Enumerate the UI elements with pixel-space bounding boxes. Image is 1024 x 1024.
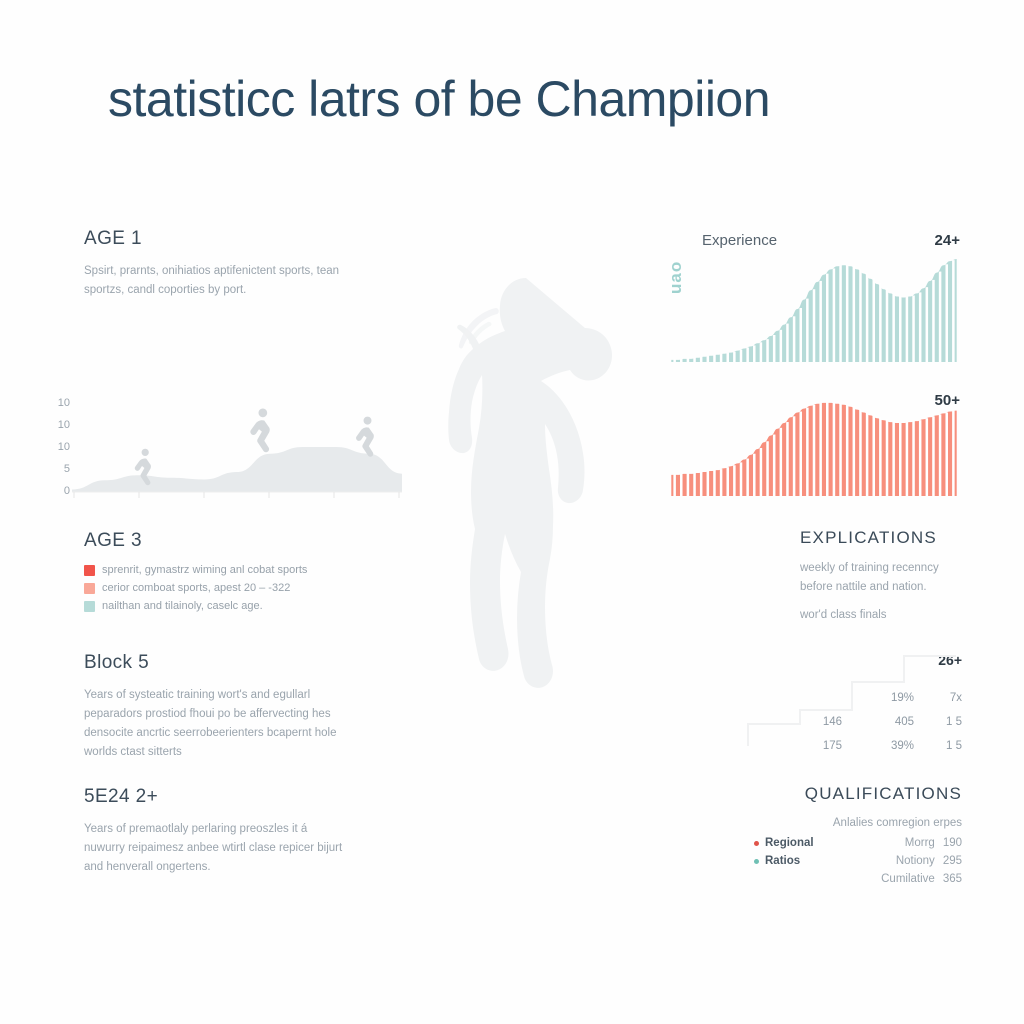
explications-line: weekly of training recenncy before natti… [800, 559, 970, 597]
section-block5-heading: Block 5 [84, 652, 346, 674]
section-5e24: 5E24 2+ Years of premaotlaly perlaring p… [84, 786, 346, 877]
bar-gap [939, 272, 942, 362]
bar-gap [892, 292, 895, 362]
bar-gap [872, 414, 875, 496]
bar-gap [673, 474, 676, 496]
section-qualifications-heading: QUALIFICATIONS [754, 784, 962, 804]
runner-silhouette-figure [400, 260, 640, 780]
bar-gap [879, 283, 882, 362]
bar-gap [746, 459, 749, 496]
bar-gap [766, 441, 769, 496]
bar-gap [746, 347, 749, 362]
bar-gap [839, 265, 842, 362]
bar-gap [879, 417, 882, 496]
section-age3-heading: AGE 3 [84, 530, 366, 552]
qualifications-subtitle: Anlalies comregion erpes [754, 817, 962, 829]
hill-chart-y-axis: 10 10 10 5 0 [44, 392, 70, 502]
explications-line: wor'd class finals [800, 606, 970, 625]
bar-gap [726, 467, 729, 496]
bar-gap [906, 297, 909, 362]
bar-gap [680, 359, 683, 362]
experience-chart: Experience 24+ uao [668, 232, 960, 362]
legend-dot [754, 841, 759, 846]
table-cell: 39% [842, 740, 914, 752]
bar-gap [740, 350, 743, 362]
table-cell: 175 [750, 740, 842, 752]
bar-gap [786, 422, 789, 496]
bar-gap [872, 278, 875, 362]
qualifications-body: RegionalRatios Morrg190Notiony295Cumilat… [754, 837, 962, 891]
bar-gap [866, 273, 869, 362]
y-tick: 0 [44, 480, 70, 502]
page-title: statisticc latrs of be Champiion [108, 70, 968, 128]
bar-gap [939, 414, 942, 496]
bar-gap [826, 274, 829, 362]
bar-gap [853, 406, 856, 496]
bar-gap [906, 422, 909, 496]
section-qualifications: QUALIFICATIONS Anlalies comregion erpes … [754, 784, 962, 891]
hill-area-chart [72, 392, 402, 504]
bar-gap [833, 402, 836, 496]
infographic-canvas: statisticc latrs of be Champiion AGE 1 S… [0, 0, 1024, 1024]
section-explications-body: weekly of training recenncy before natti… [800, 559, 970, 625]
qualification-row-value: 365 [943, 873, 962, 885]
bar-gap [846, 404, 849, 496]
table-cell: 19% [842, 692, 914, 704]
bar-gap [726, 353, 729, 362]
bar-gap [733, 352, 736, 362]
table-row: 17539%1 5 [740, 734, 962, 758]
bar-gap [780, 330, 783, 362]
bar-gap [773, 335, 776, 362]
bar-gap [926, 287, 929, 362]
section-5e24-heading: 5E24 2+ [84, 786, 346, 808]
bar-gap [899, 422, 902, 496]
bar-gap [959, 258, 960, 362]
legend-item-label: nailthan and tilainoly, caselc age. [102, 600, 263, 613]
bar-gap [859, 409, 862, 496]
bar-gap [819, 403, 822, 496]
bar-gap [859, 268, 862, 362]
section-explications-heading: EXPLICATIONS [800, 528, 970, 548]
y-tick: 10 [44, 392, 70, 414]
bar-gap [919, 292, 922, 362]
legend-item-label: sprenrit, gymastrz wiming anl cobat spor… [102, 564, 307, 577]
legend-dot-label: Regional [765, 837, 814, 849]
bar-gap [819, 281, 822, 362]
bar-gap [687, 473, 690, 496]
bar-gap [673, 359, 676, 362]
bar-gap [959, 410, 960, 496]
qualification-row-label: Morrg [905, 837, 935, 849]
bar-gap [760, 342, 763, 362]
runner-icon-3 [356, 417, 374, 457]
legend-swatch [84, 565, 95, 576]
bar-gap [799, 411, 802, 496]
section-explications: EXPLICATIONS weekly of training recenncy… [800, 528, 970, 634]
bar-gap [740, 462, 743, 496]
bar-gap [780, 428, 783, 496]
y-tick: 10 [44, 414, 70, 436]
bar-gap [693, 473, 696, 496]
section-block5-body: Years of systeatic training wort's and e… [84, 686, 346, 762]
qualification-legend-item: Ratios [754, 855, 838, 867]
bar-gap [833, 268, 836, 362]
bar-gap [919, 420, 922, 496]
bar-gap [932, 280, 935, 362]
bar-gap [912, 295, 915, 362]
qualification-row-label: Notiony [896, 855, 935, 867]
qualification-row-value: 190 [943, 837, 962, 849]
qualification-row-value: 295 [943, 855, 962, 867]
qualifications-legend: RegionalRatios [754, 837, 838, 891]
bar-gap [945, 264, 948, 362]
bar-gap [720, 469, 723, 496]
y-tick: 10 [44, 436, 70, 458]
bar-gap [932, 416, 935, 496]
bar-gap [806, 408, 809, 496]
y-tick: 5 [44, 458, 70, 480]
bar-gap [733, 465, 736, 496]
legend-item: sprenrit, gymastrz wiming anl cobat spor… [84, 564, 366, 577]
bar-gap [826, 402, 829, 496]
bar-gap [760, 448, 763, 496]
bar-gap [707, 471, 710, 496]
bar-gap [952, 411, 955, 496]
table-cell: 7x [914, 692, 962, 704]
section-block5: Block 5 Years of systeatic training wort… [84, 652, 346, 762]
bar-gap [886, 419, 889, 496]
section-age3: AGE 3 sprenrit, gymastrz wiming anl coba… [84, 530, 366, 619]
bar-gap [720, 354, 723, 362]
volume-bars [668, 400, 960, 496]
bar-gap [912, 421, 915, 496]
legend-swatch [84, 583, 95, 594]
bar-gap [680, 474, 683, 496]
step-stats-chart: 26+ 19%7x1464051 517539%1 5 [740, 650, 962, 760]
bar-gap [886, 288, 889, 362]
qualification-row-label: Cumilative [881, 873, 935, 885]
table-cell: 146 [750, 716, 842, 728]
bar-gap [853, 265, 856, 362]
bar-gap [899, 295, 902, 362]
bar-gap [952, 260, 955, 362]
bar-gap [793, 316, 796, 362]
bar-gap [793, 416, 796, 496]
bar-gap [926, 418, 929, 496]
bar-gap [786, 324, 789, 362]
bar-gap [799, 308, 802, 362]
legend-item-label: cerior comboat sports, apest 20 – -322 [102, 582, 290, 595]
table-cell: 405 [842, 716, 914, 728]
bar-gap [945, 412, 948, 496]
table-cell: 1 5 [914, 716, 962, 728]
experience-chart-title: Experience [702, 232, 777, 249]
table-row: 1464051 5 [740, 710, 962, 734]
qualifications-rows: Morrg190Notiony295Cumilative365 [838, 837, 962, 891]
bar-gap [839, 403, 842, 496]
section-age1-heading: AGE 1 [84, 228, 356, 250]
experience-bars [668, 258, 960, 362]
bar-gap [753, 454, 756, 496]
section-age1-body: Spsirt, prarnts, onihiatios aptifenicten… [84, 262, 356, 300]
bar-gap [866, 411, 869, 496]
bar-gap [700, 472, 703, 496]
qualification-row: Notiony295 [838, 855, 962, 867]
bar-gap [846, 264, 849, 362]
bar-gap [773, 435, 776, 496]
legend-item: nailthan and tilainoly, caselc age. [84, 600, 366, 613]
bar-gap [693, 358, 696, 362]
bar-gap [892, 421, 895, 496]
step-stats-grid: 19%7x1464051 517539%1 5 [740, 686, 962, 758]
bar-gap [707, 356, 710, 362]
section-age1: AGE 1 Spsirt, prarnts, onihiatios aptife… [84, 228, 356, 300]
bar-gap [713, 470, 716, 496]
table-row: 19%7x [740, 686, 962, 710]
legend-dot [754, 859, 759, 864]
experience-chart-value: 24+ [935, 232, 960, 249]
bar-gap [766, 339, 769, 362]
legend-swatch [84, 601, 95, 612]
bar-gap [813, 405, 816, 496]
section-5e24-body: Years of premaotlaly perlaring preoszles… [84, 820, 346, 877]
age3-legend: sprenrit, gymastrz wiming anl cobat spor… [84, 564, 366, 614]
legend-dot-label: Ratios [765, 855, 800, 867]
qualification-row: Cumilative365 [838, 873, 962, 885]
runner-icon-2 [250, 409, 269, 453]
bar-gap [753, 345, 756, 362]
bar-gap [700, 357, 703, 362]
table-cell: 1 5 [914, 740, 962, 752]
qualification-legend-item: Regional [754, 837, 838, 849]
bar-gap [713, 355, 716, 362]
qualification-row: Morrg190 [838, 837, 962, 849]
bar-gap [806, 299, 809, 362]
bar-gap [687, 358, 690, 362]
legend-item: cerior comboat sports, apest 20 – -322 [84, 582, 366, 595]
bar-gap [813, 289, 816, 362]
volume-chart: 50+ [668, 392, 960, 496]
